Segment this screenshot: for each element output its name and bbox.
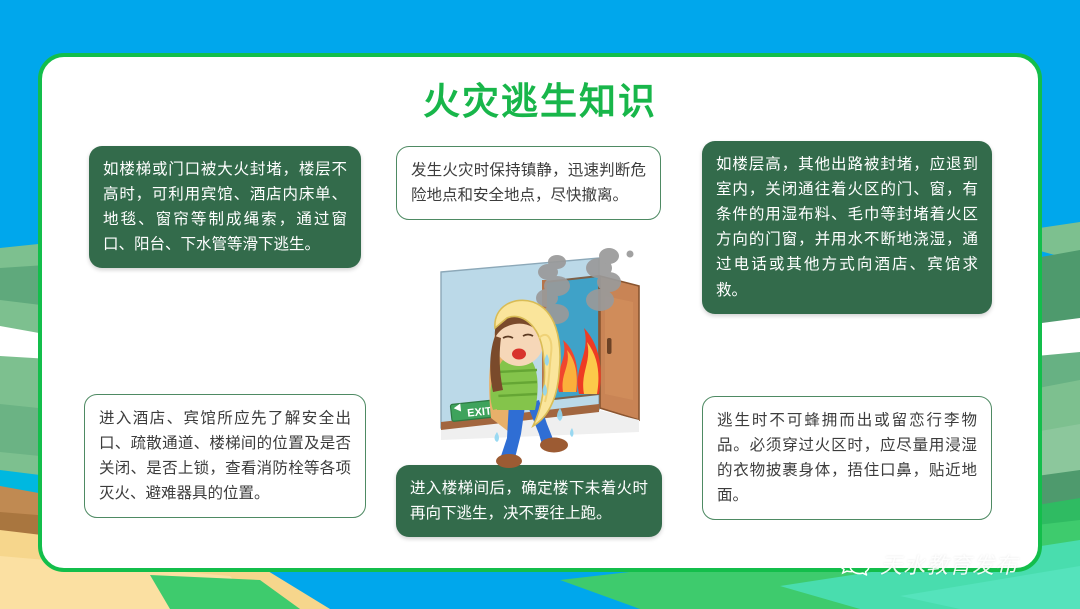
tip-box-bottom-center: 进入楼梯间后，确定楼下未着火时再向下逃生，决不要往上跑。 [396,465,662,537]
tip-box-top-center: 发生火灾时保持镇静，迅速判断危险地点和安全地点，尽快撤离。 [396,146,661,220]
wechat-icon [838,550,872,578]
watermark-text: 天水教育发布 [880,548,1018,580]
content-card: 火灾逃生知识 如楼梯或门口被大火封堵，楼层不高时，可利用宾馆、酒店内床单、地毯、… [38,53,1042,572]
tip-box-bottom-right: 逃生时不可蜂拥而出或留恋行李物品。必须穿过火区时，应尽量用浸湿的衣物披裹身体，捂… [702,396,992,520]
watermark: 天水教育发布 [838,548,1018,580]
tip-box-top-right: 如楼层高，其他出路被封堵，应退到室内，关闭通往着火区的门、窗，有条件的用湿布料、… [702,141,992,314]
poster-canvas: 火灾逃生知识 如楼梯或门口被大火封堵，楼层不高时，可利用宾馆、酒店内床单、地毯、… [0,0,1080,609]
fire-escape-illustration: EXIT [427,242,677,474]
svg-text:EXIT: EXIT [467,405,493,420]
page-title: 火灾逃生知识 [42,81,1038,124]
tip-box-top-left: 如楼梯或门口被大火封堵，楼层不高时，可利用宾馆、酒店内床单、地毯、窗帘等制成绳索… [89,146,361,268]
tip-box-bottom-left: 进入酒店、宾馆所应先了解安全出口、疏散通道、楼梯间的位置及是否关闭、是否上锁，查… [84,394,366,518]
